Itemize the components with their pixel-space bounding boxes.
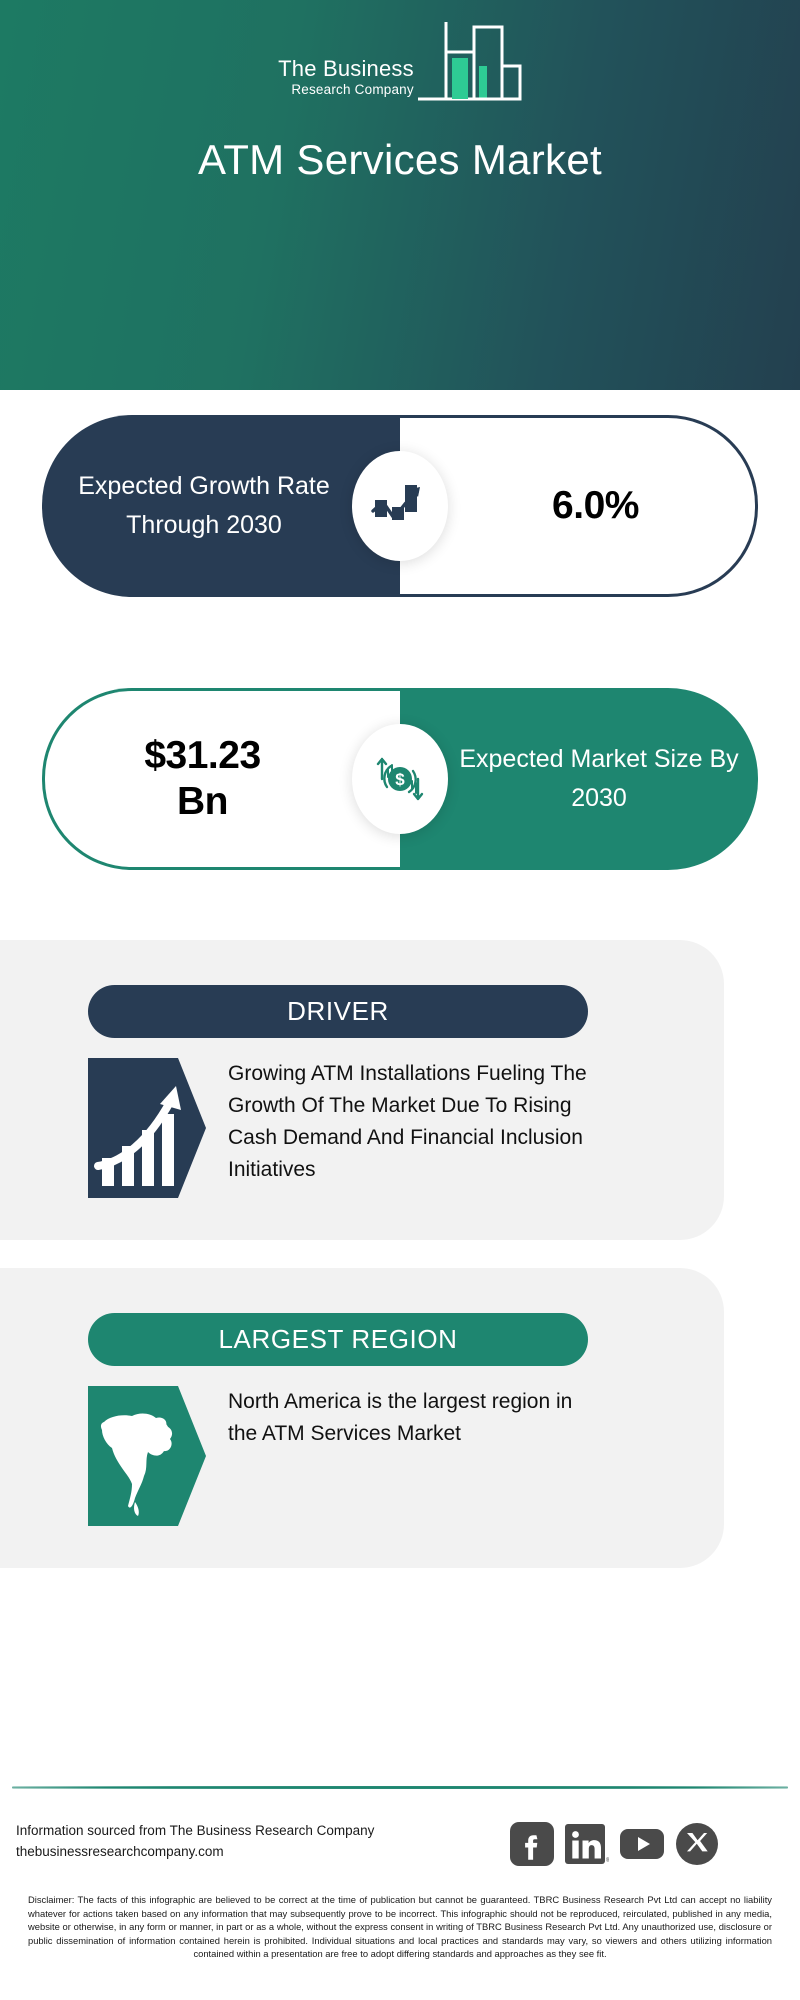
footer-divider — [12, 1786, 788, 1789]
youtube-icon[interactable] — [620, 1822, 664, 1866]
dollar-cycle-icon: $ — [371, 751, 429, 807]
logo-line-secondary: Research Company — [291, 81, 414, 98]
svg-text:®: ® — [606, 1857, 609, 1864]
growth-rate-value: 6.0% — [516, 483, 639, 529]
logo-line-primary: The Business — [278, 57, 414, 81]
region-body: North America is the largest region in t… — [0, 1386, 724, 1526]
growth-label-half: Expected Growth Rate Through 2030 — [42, 415, 400, 597]
growth-bars-arrow-icon — [88, 1058, 206, 1198]
market-size-label: Expected Market Size By 2030 — [400, 740, 758, 818]
north-america-map-icon — [88, 1386, 206, 1526]
market-size-value-half: $31.23 Bn — [42, 688, 400, 870]
header-banner: The Business Research Company ATM Servic… — [0, 0, 800, 390]
social-links: ® — [510, 1822, 719, 1866]
stat-card-growth-rate: Expected Growth Rate Through 2030 6.0% — [42, 415, 758, 597]
growth-chart-arrow-icon — [371, 480, 429, 532]
footer-credit-line1: Information sourced from The Business Re… — [16, 1820, 374, 1841]
x-twitter-icon[interactable] — [675, 1822, 719, 1866]
infographic-root: The Business Research Company ATM Servic… — [0, 0, 800, 2000]
driver-pill-label: DRIVER — [287, 996, 389, 1027]
growth-value-half: 6.0% — [400, 415, 758, 597]
company-logo: The Business Research Company — [0, 20, 800, 104]
logo-wordmark: The Business Research Company — [278, 57, 414, 104]
facebook-icon[interactable] — [510, 1822, 554, 1866]
stat-card-market-size: $31.23 Bn Expected Market Size By 2030 $ — [42, 688, 758, 870]
market-size-value-line2: Bn — [177, 780, 228, 823]
driver-pill: DRIVER — [88, 985, 588, 1038]
market-size-value-line1: $31.23 — [144, 734, 260, 777]
svg-text:$: $ — [395, 770, 405, 789]
panel-driver: DRIVER Growing ATM Installations Fueling… — [0, 940, 724, 1240]
footer-credit-line2[interactable]: thebusinessresearchcompany.com — [16, 1841, 374, 1862]
market-size-value: $31.23 Bn — [144, 733, 300, 825]
growth-rate-label: Expected Growth Rate Through 2030 — [42, 467, 400, 545]
driver-body: Growing ATM Installations Fueling The Gr… — [0, 1058, 724, 1198]
growth-icon-badge — [352, 451, 448, 561]
footer-credit: Information sourced from The Business Re… — [16, 1820, 374, 1862]
region-pill-label: LARGEST REGION — [218, 1324, 457, 1355]
market-size-icon-badge: $ — [352, 724, 448, 834]
region-pill: LARGEST REGION — [88, 1313, 588, 1366]
bar-chart-logo-mark-icon — [416, 20, 522, 104]
region-description: North America is the largest region in t… — [228, 1386, 588, 1450]
page-title: ATM Services Market — [0, 136, 800, 184]
disclaimer-text: Disclaimer: The facts of this infographi… — [28, 1893, 772, 1961]
panel-largest-region: LARGEST REGION North America is the larg… — [0, 1268, 724, 1568]
driver-description: Growing ATM Installations Fueling The Gr… — [228, 1058, 588, 1186]
market-size-label-half: Expected Market Size By 2030 — [400, 688, 758, 870]
linkedin-icon[interactable]: ® — [565, 1822, 609, 1866]
